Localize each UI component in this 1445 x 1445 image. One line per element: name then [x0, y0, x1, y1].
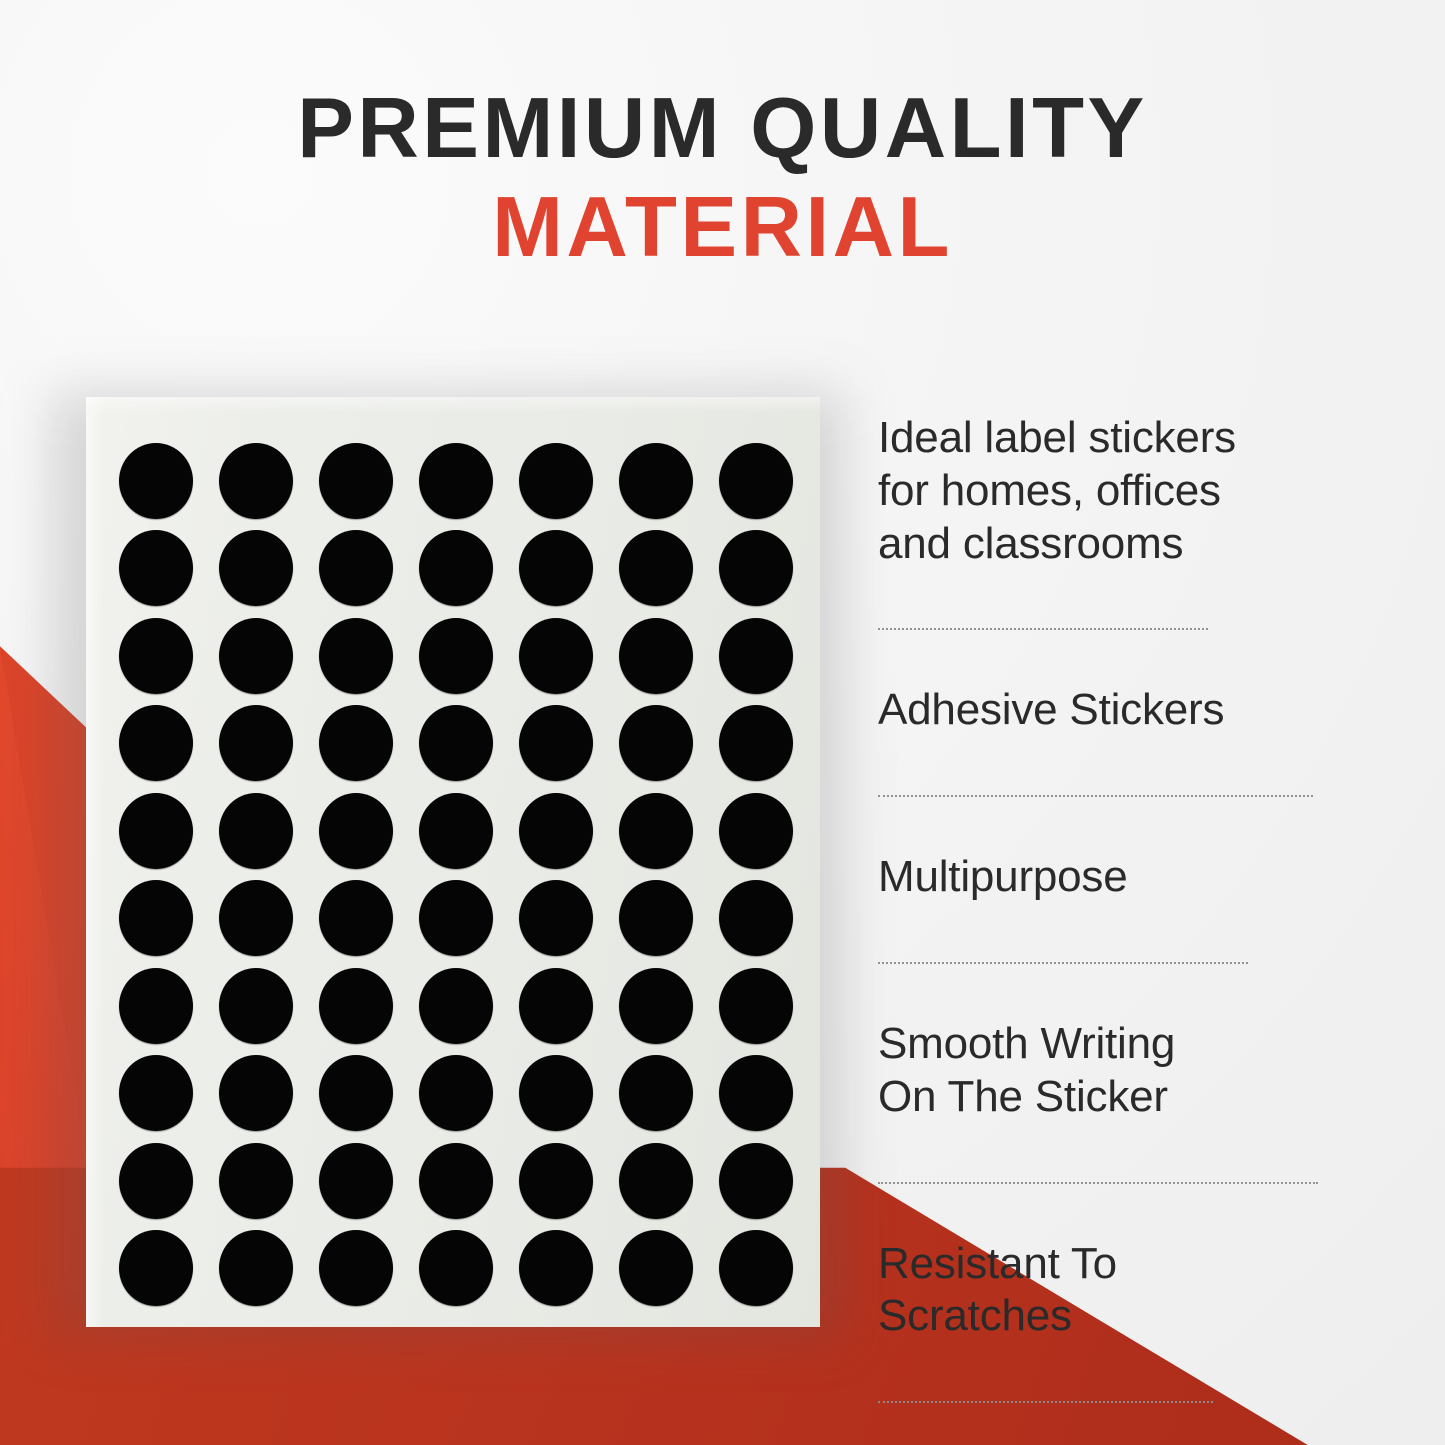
- sticker-dot: [319, 880, 393, 956]
- sticker-dot: [519, 880, 593, 956]
- feature-spacer: [878, 737, 1398, 795]
- sticker-dot: [419, 968, 493, 1044]
- sticker-dot: [619, 1230, 693, 1306]
- sticker-dot: [519, 530, 593, 606]
- feature-spacer: [878, 1403, 1398, 1445]
- sticker-dot: [719, 530, 793, 606]
- feature-spacer: [878, 630, 1398, 684]
- sticker-dot: [519, 793, 593, 869]
- page-title: PREMIUM QUALITY MATERIAL: [0, 86, 1445, 270]
- sticker-dot: [519, 968, 593, 1044]
- sticker-dot: [319, 793, 393, 869]
- sticker-dot: [619, 530, 693, 606]
- sticker-dot: [519, 705, 593, 781]
- sticker-dot: [119, 968, 193, 1044]
- sticker-dot: [119, 880, 193, 956]
- sticker-dot: [719, 618, 793, 694]
- sticker-dot: [719, 880, 793, 956]
- sticker-dot: [119, 1230, 193, 1306]
- sticker-dot: [619, 1143, 693, 1219]
- feature-divider-ideal-use: [878, 628, 1208, 630]
- sticker-dot: [719, 968, 793, 1044]
- sticker-dot: [319, 530, 393, 606]
- sticker-dot: [419, 705, 493, 781]
- feature-divider-multipurpose: [878, 962, 1248, 964]
- feature-item-smooth-writing: Smooth Writing On The Sticker: [878, 1018, 1398, 1124]
- feature-item-adhesive: Adhesive Stickers: [878, 684, 1398, 737]
- sticker-dot: [719, 1055, 793, 1131]
- feature-item-scratch-resistant: Resistant To Scratches: [878, 1238, 1398, 1344]
- sticker-dot: [519, 618, 593, 694]
- sticker-dot: [119, 618, 193, 694]
- sticker-dot: [319, 968, 393, 1044]
- sticker-dot: [319, 618, 393, 694]
- sticker-dot: [519, 1230, 593, 1306]
- feature-list: Ideal label stickers for homes, offices …: [878, 412, 1398, 1445]
- sticker-dot: [619, 618, 693, 694]
- sticker-dot: [219, 618, 293, 694]
- sticker-dot: [219, 1055, 293, 1131]
- sticker-dot: [619, 1055, 693, 1131]
- sticker-dot: [719, 793, 793, 869]
- feature-spacer: [878, 570, 1398, 628]
- product-image-sticker-sheet: [86, 397, 820, 1327]
- sticker-dot: [419, 530, 493, 606]
- sticker-dot: [219, 968, 293, 1044]
- sticker-dot: [319, 705, 393, 781]
- sticker-dot: [419, 1055, 493, 1131]
- sticker-dot: [519, 1143, 593, 1219]
- sticker-dot: [119, 1055, 193, 1131]
- feature-spacer: [878, 1124, 1398, 1182]
- sticker-dot: [119, 443, 193, 519]
- sticker-dot: [319, 443, 393, 519]
- sticker-dot: [219, 1230, 293, 1306]
- headline-line-accent: MATERIAL: [0, 185, 1445, 270]
- feature-spacer: [878, 1184, 1398, 1238]
- sticker-dot: [519, 443, 593, 519]
- sticker-dot: [719, 1143, 793, 1219]
- sticker-dot: [419, 618, 493, 694]
- sticker-dot: [719, 705, 793, 781]
- feature-divider-smooth-writing: [878, 1182, 1318, 1184]
- sticker-dot: [319, 1230, 393, 1306]
- sticker-dot: [719, 443, 793, 519]
- sticker-dot: [619, 705, 693, 781]
- sticker-dot: [419, 443, 493, 519]
- sticker-dot: [419, 1230, 493, 1306]
- sticker-dot: [419, 880, 493, 956]
- sticker-dot: [619, 968, 693, 1044]
- sticker-dot: [619, 793, 693, 869]
- sticker-dot: [419, 1143, 493, 1219]
- sticker-dot: [719, 1230, 793, 1306]
- sticker-dot: [219, 1143, 293, 1219]
- headline-line-primary: PREMIUM QUALITY: [0, 86, 1445, 171]
- feature-spacer: [878, 964, 1398, 1018]
- sticker-dot: [119, 705, 193, 781]
- feature-spacer: [878, 797, 1398, 851]
- sticker-dot: [119, 1143, 193, 1219]
- feature-spacer: [878, 904, 1398, 962]
- sticker-dot: [219, 530, 293, 606]
- sticker-dot: [619, 443, 693, 519]
- sticker-dot: [619, 880, 693, 956]
- feature-divider-adhesive: [878, 795, 1313, 797]
- sticker-dot: [119, 530, 193, 606]
- sticker-dot: [119, 793, 193, 869]
- sticker-dot: [319, 1143, 393, 1219]
- sticker-dot: [219, 443, 293, 519]
- feature-item-multipurpose: Multipurpose: [878, 851, 1398, 904]
- sticker-dot: [219, 793, 293, 869]
- sticker-dot: [419, 793, 493, 869]
- feature-item-ideal-use: Ideal label stickers for homes, offices …: [878, 412, 1398, 570]
- sticker-dot: [219, 880, 293, 956]
- sticker-dot: [319, 1055, 393, 1131]
- feature-spacer: [878, 1343, 1398, 1401]
- sticker-dot: [519, 1055, 593, 1131]
- sticker-dot-grid: [106, 437, 806, 1312]
- feature-divider-scratch-resistant: [878, 1401, 1213, 1403]
- sticker-dot: [219, 705, 293, 781]
- product-infographic-poster: PREMIUM QUALITY MATERIAL Ideal label sti…: [0, 0, 1445, 1445]
